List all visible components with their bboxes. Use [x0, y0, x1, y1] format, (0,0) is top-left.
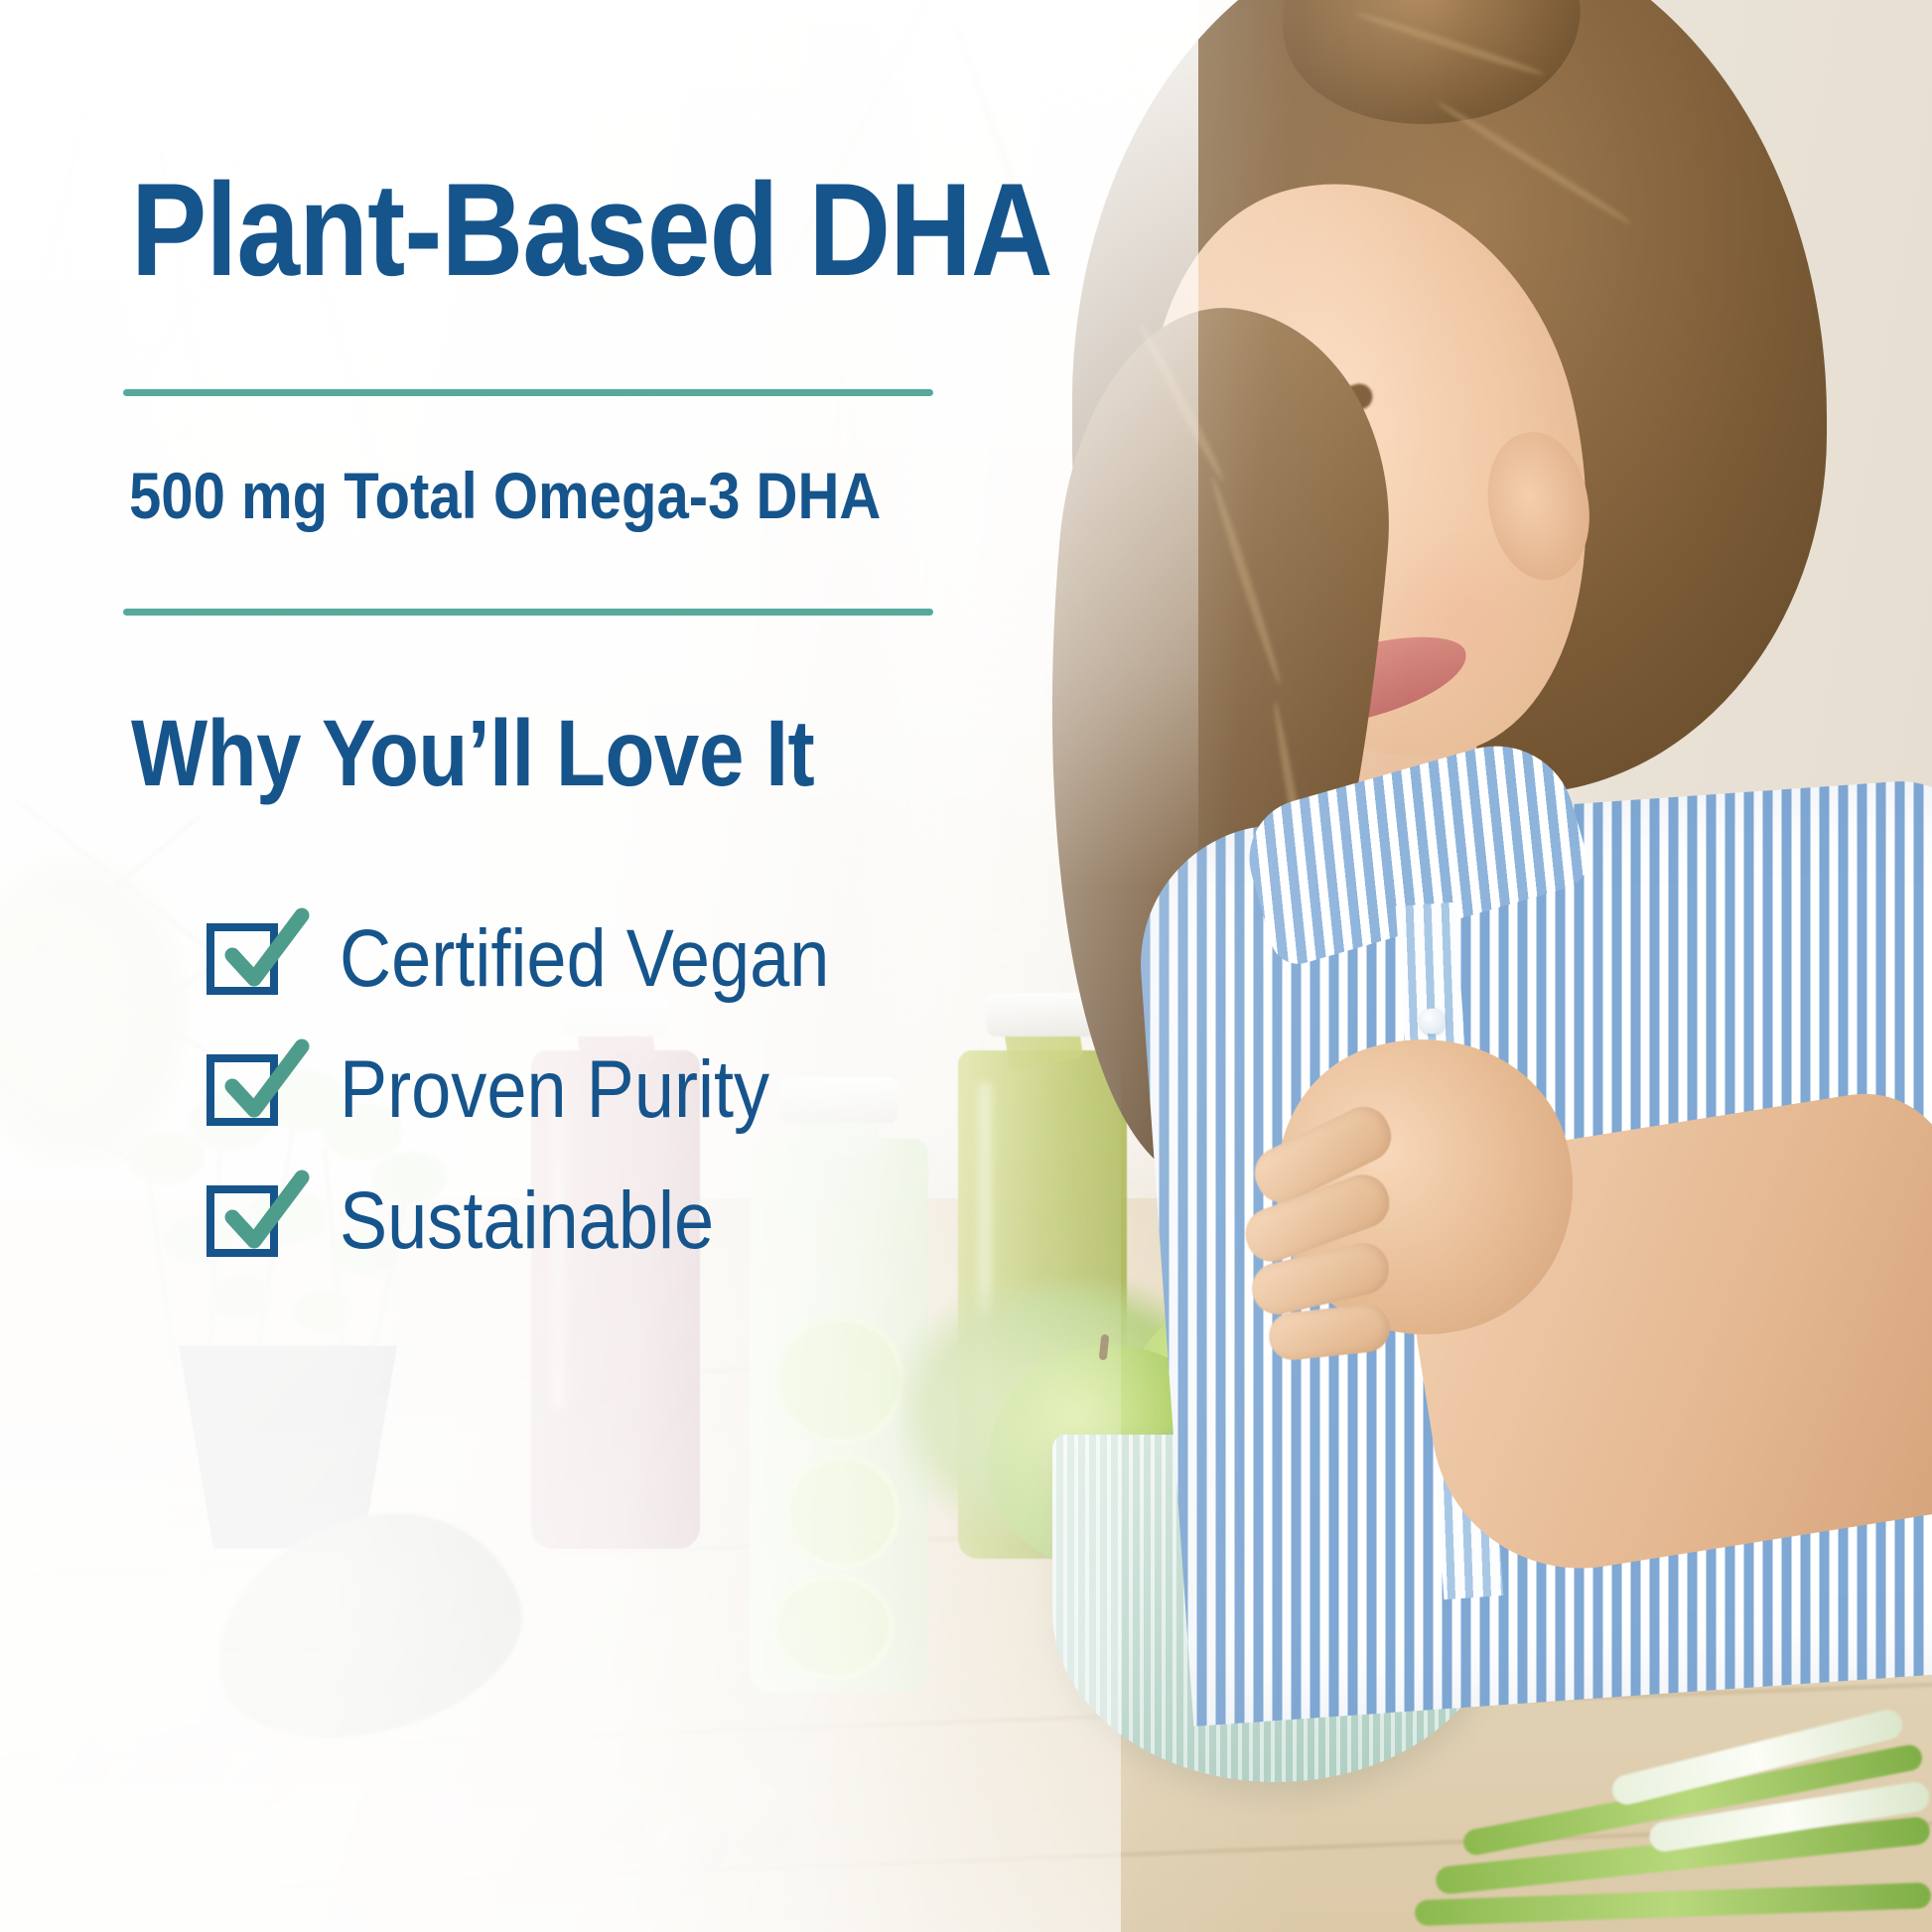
benefit-item-sustainable: Sustainable	[207, 1156, 897, 1287]
section-title: Why You’ll Love It	[131, 707, 814, 801]
checkbox-checked-icon	[207, 1054, 278, 1126]
divider-top	[123, 389, 933, 396]
headline: Plant-Based DHA	[131, 165, 1052, 297]
checkbox-checked-icon	[207, 1185, 278, 1257]
benefit-label: Proven Purity	[340, 1049, 769, 1131]
checkbox-checked-icon	[207, 923, 278, 995]
benefit-label: Sustainable	[340, 1180, 714, 1262]
benefits-list: Certified Vegan Proven Purity Sustainabl…	[207, 894, 897, 1287]
benefit-item-proven-purity: Proven Purity	[207, 1025, 897, 1156]
benefit-item-certified-vegan: Certified Vegan	[207, 894, 897, 1025]
benefit-label: Certified Vegan	[340, 918, 829, 1000]
marketing-copy-block: Plant-Based DHA 500 mg Total Omega-3 DHA…	[0, 0, 1932, 1932]
divider-bottom	[123, 609, 933, 616]
product-marketing-image: Plant-Based DHA 500 mg Total Omega-3 DHA…	[0, 0, 1932, 1932]
subheadline: 500 mg Total Omega-3 DHA	[129, 463, 881, 528]
